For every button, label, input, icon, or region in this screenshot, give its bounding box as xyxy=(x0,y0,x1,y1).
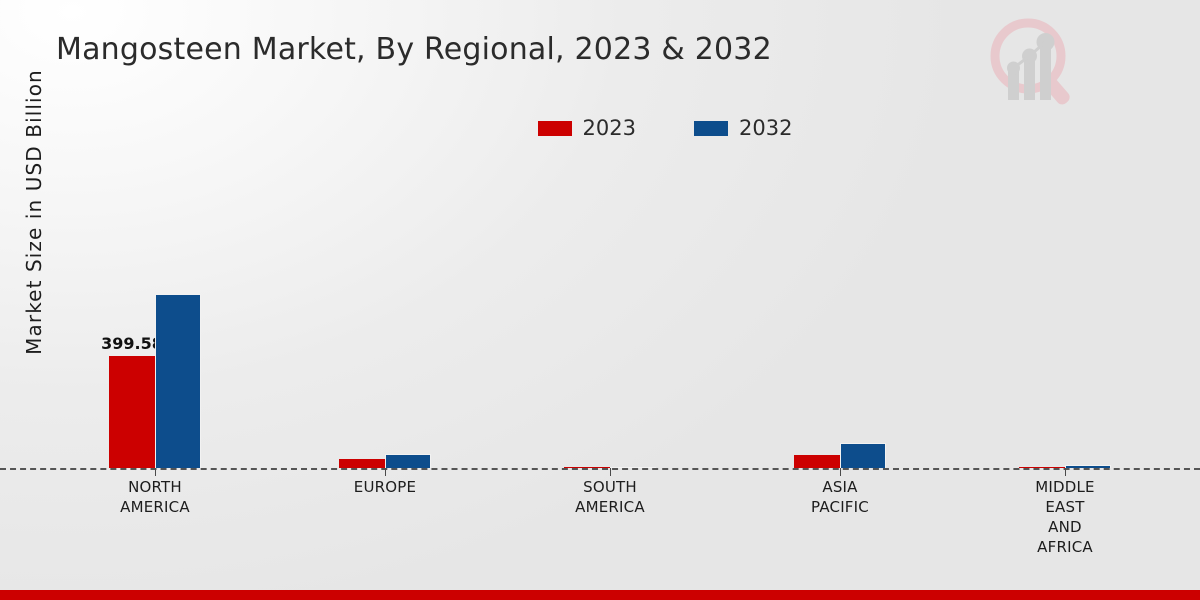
chart-legend: 2023 2032 xyxy=(0,118,1200,139)
plot-area: 399.58 xyxy=(42,160,1200,468)
bar-group xyxy=(1019,160,1111,468)
bar-group xyxy=(564,160,656,468)
x-axis-category-label: SOUTHAMERICA xyxy=(515,478,705,518)
market-research-magnifier-logo-icon xyxy=(980,12,1084,112)
bottom-accent-strip xyxy=(0,590,1200,600)
x-axis-tick xyxy=(840,468,841,476)
category-label-line: AFRICA xyxy=(970,538,1160,558)
category-label-line: PACIFIC xyxy=(745,498,935,518)
x-axis-category-label: MIDDLEEASTANDAFRICA xyxy=(970,478,1160,558)
category-label-line: EUROPE xyxy=(290,478,480,498)
x-axis-baseline xyxy=(0,468,1200,470)
legend-item-2023[interactable]: 2023 xyxy=(538,118,636,139)
bar-2023[interactable] xyxy=(794,455,840,468)
category-label-line: AMERICA xyxy=(60,498,250,518)
bar-2032[interactable] xyxy=(840,443,886,468)
x-axis-tick xyxy=(155,468,156,476)
x-axis-tick xyxy=(1065,468,1066,476)
x-axis-category-label: EUROPE xyxy=(290,478,480,498)
bar-2023[interactable] xyxy=(339,459,385,468)
x-axis-tick xyxy=(610,468,611,476)
legend-label-2023: 2023 xyxy=(583,118,636,139)
legend-item-2032[interactable]: 2032 xyxy=(694,118,792,139)
category-label-line: AMERICA xyxy=(515,498,705,518)
category-label-line: AND xyxy=(970,518,1160,538)
category-label-line: NORTH xyxy=(60,478,250,498)
category-label-line: SOUTH xyxy=(515,478,705,498)
page-title: Mangosteen Market, By Regional, 2023 & 2… xyxy=(56,32,772,67)
x-axis-category-label: NORTHAMERICA xyxy=(60,478,250,518)
bar-2032[interactable] xyxy=(385,454,431,468)
category-label-line: EAST xyxy=(970,498,1160,518)
bar-group: 399.58 xyxy=(109,160,201,468)
x-axis-tick xyxy=(385,468,386,476)
legend-swatch-icon-2023 xyxy=(538,121,572,136)
bar-value-label: 399.58 xyxy=(101,334,163,353)
chart-canvas: Mangosteen Market, By Regional, 2023 & 2… xyxy=(0,0,1200,600)
category-label-line: ASIA xyxy=(745,478,935,498)
x-axis-category-label: ASIAPACIFIC xyxy=(745,478,935,518)
bar-2032[interactable] xyxy=(155,294,201,468)
bar-group xyxy=(794,160,886,468)
bar-group xyxy=(339,160,431,468)
category-label-line: MIDDLE xyxy=(970,478,1160,498)
bar-2023[interactable]: 399.58 xyxy=(109,356,155,468)
legend-label-2032: 2032 xyxy=(739,118,792,139)
legend-swatch-icon-2032 xyxy=(694,121,728,136)
